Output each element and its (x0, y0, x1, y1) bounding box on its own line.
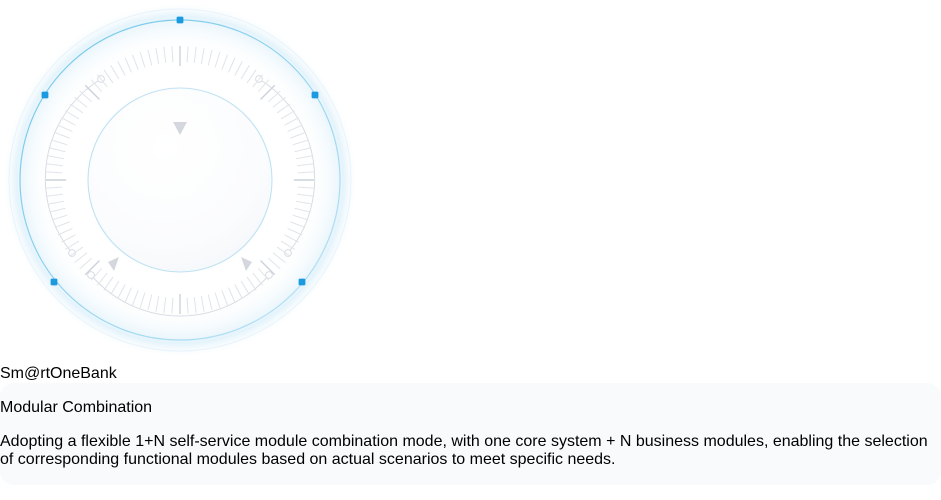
card-modular-combination-body: Adopting a flexible 1+N self-service mod… (0, 433, 941, 469)
inner-disc (88, 88, 272, 272)
brand-label-wrapper: Sm@rtOneBank (0, 365, 941, 383)
ring-node-right (312, 92, 319, 99)
card-modular-combination[interactable]: Modular Combination Adopting a flexible … (0, 383, 941, 485)
ring-node-bottom-left (51, 279, 58, 286)
infographic-stage: Sm@rtOneBank Out-of-the-box After rigoro… (0, 0, 941, 500)
card-modular-combination-title: Modular Combination (0, 399, 941, 417)
ring-node-left (42, 92, 49, 99)
ring-node-top (177, 17, 184, 24)
ring-node-bottom-right (299, 279, 306, 286)
brand-name-text: Sm@rtOneBank (0, 365, 117, 382)
center-circular-graphic (0, 0, 941, 365)
